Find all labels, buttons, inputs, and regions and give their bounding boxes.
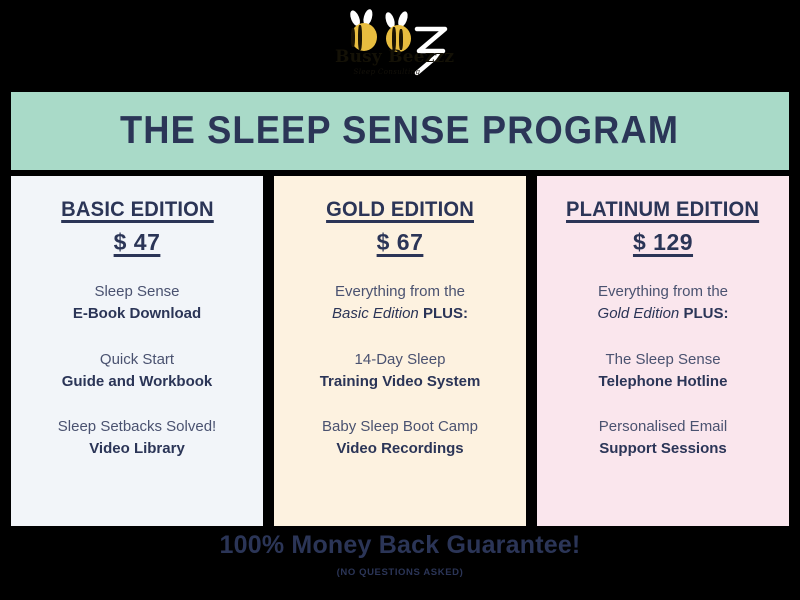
- feature-top-line: The Sleep Sense: [551, 350, 775, 370]
- feature-bottom-line: Video Recordings: [288, 439, 512, 459]
- feature-top-line: Everything from the: [288, 282, 512, 302]
- feature-bottom-line: Support Sessions: [551, 439, 775, 459]
- pricing-columns: BASIC EDITION $ 47 Sleep Sense E-Book Do…: [11, 176, 789, 526]
- pricing-poster: Busy Beezzz Sleep Consulting THE SLEEP S…: [0, 0, 800, 600]
- header-banner: THE SLEEP SENSE PROGRAM: [11, 92, 789, 170]
- feature-item: Sleep Setbacks Solved! Video Library: [25, 417, 249, 460]
- feature-list: Sleep Sense E-Book Download Quick Start …: [25, 282, 249, 460]
- feature-plus-text: PLUS: [423, 305, 463, 322]
- page-title: THE SLEEP SENSE PROGRAM: [120, 109, 679, 153]
- feature-top-line: Sleep Setbacks Solved!: [25, 417, 249, 437]
- plan-price: $ 129: [633, 229, 693, 256]
- guarantee-subtext: (NO QUESTIONS ASKED): [0, 567, 800, 578]
- feature-item: Everything from the Gold Edition PLUS:: [551, 282, 775, 325]
- feature-list: Everything from the Gold Edition PLUS: T…: [551, 282, 775, 460]
- feature-bottom-line: Video Library: [25, 439, 249, 459]
- plan-name: PLATINUM EDITION: [566, 198, 759, 222]
- bee-icon: [347, 17, 381, 51]
- feature-item: Everything from the Basic Edition PLUS:: [288, 282, 512, 325]
- logo-tagline: Sleep Consulting: [335, 68, 439, 76]
- feature-bottom-line: Training Video System: [288, 372, 512, 392]
- feature-top-line: Baby Sleep Boot Camp: [288, 417, 512, 437]
- logo-wordmark: Busy Beezzz: [335, 49, 439, 66]
- feature-item: Quick Start Guide and Workbook: [25, 350, 249, 393]
- feature-bottom-line: E-Book Download: [25, 304, 249, 324]
- plan-card-platinum[interactable]: PLATINUM EDITION $ 129 Everything from t…: [537, 176, 789, 526]
- footer: 100% Money Back Guarantee! (NO QUESTIONS…: [0, 533, 800, 578]
- feature-top-line: Quick Start: [25, 350, 249, 370]
- plan-price: $ 47: [114, 229, 161, 256]
- plan-card-basic[interactable]: BASIC EDITION $ 47 Sleep Sense E-Book Do…: [11, 176, 263, 526]
- feature-item: 14-Day Sleep Training Video System: [288, 350, 512, 393]
- feature-bottom-line: Gold Edition PLUS:: [551, 304, 775, 324]
- feature-italic-text: Basic Edition: [332, 305, 419, 322]
- guarantee-text: 100% Money Back Guarantee!: [0, 533, 800, 558]
- feature-top-line: Everything from the: [551, 282, 775, 302]
- feature-bottom-line: Telephone Hotline: [551, 372, 775, 392]
- plan-name: BASIC EDITION: [61, 198, 214, 222]
- feature-colon: :: [723, 305, 728, 322]
- feature-colon: :: [463, 305, 468, 322]
- plan-card-gold[interactable]: GOLD EDITION $ 67 Everything from the Ba…: [274, 176, 526, 526]
- plan-name: GOLD EDITION: [326, 198, 474, 222]
- feature-top-line: 14-Day Sleep: [288, 350, 512, 370]
- feature-bottom-line: Basic Edition PLUS:: [288, 304, 512, 324]
- feature-list: Everything from the Basic Edition PLUS: …: [288, 282, 512, 460]
- feature-top-line: Sleep Sense: [25, 282, 249, 302]
- feature-plus-text: PLUS: [683, 305, 723, 322]
- feature-item: Personalised Email Support Sessions: [551, 417, 775, 460]
- feature-bottom-line: Guide and Workbook: [25, 372, 249, 392]
- feature-top-line: Personalised Email: [551, 417, 775, 437]
- bee-stripe-icon: [351, 28, 355, 47]
- feature-item: Sleep Sense E-Book Download: [25, 282, 249, 325]
- feature-item: The Sleep Sense Telephone Hotline: [551, 350, 775, 393]
- brand-logo: Busy Beezzz Sleep Consulting: [0, 2, 800, 90]
- plan-price: $ 67: [377, 229, 424, 256]
- feature-italic-text: Gold Edition: [598, 305, 680, 322]
- feature-item: Baby Sleep Boot Camp Video Recordings: [288, 417, 512, 460]
